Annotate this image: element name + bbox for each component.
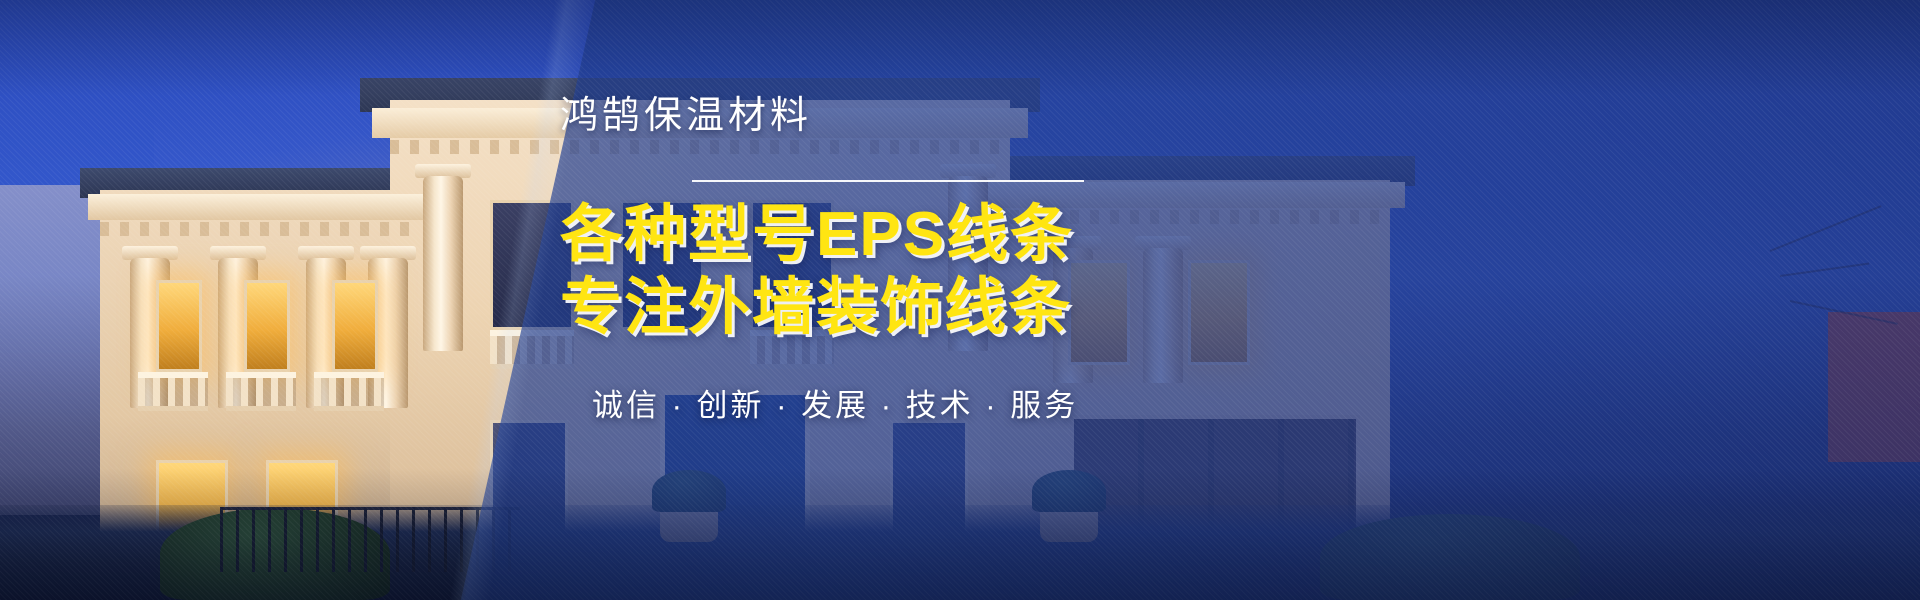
hero-banner: 鸿鹄保温材料 各种型号EPS线条 专注外墙装饰线条 诚信 · 创新 · 发展 ·… bbox=[0, 0, 1920, 600]
banner-copy: 鸿鹄保温材料 各种型号EPS线条 专注外墙装饰线条 诚信 · 创新 · 发展 ·… bbox=[560, 96, 1200, 425]
divider-rule bbox=[692, 180, 1084, 182]
tagline: 诚信 · 创新 · 发展 · 技术 · 服务 bbox=[592, 380, 1200, 425]
headline-line-2: 专注外墙装饰线条 bbox=[560, 271, 1200, 344]
headline: 各种型号EPS线条 专注外墙装饰线条 bbox=[560, 198, 1200, 344]
brand-name: 鸿鹄保温材料 bbox=[560, 96, 1200, 138]
headline-line-1: 各种型号EPS线条 bbox=[560, 198, 1200, 271]
